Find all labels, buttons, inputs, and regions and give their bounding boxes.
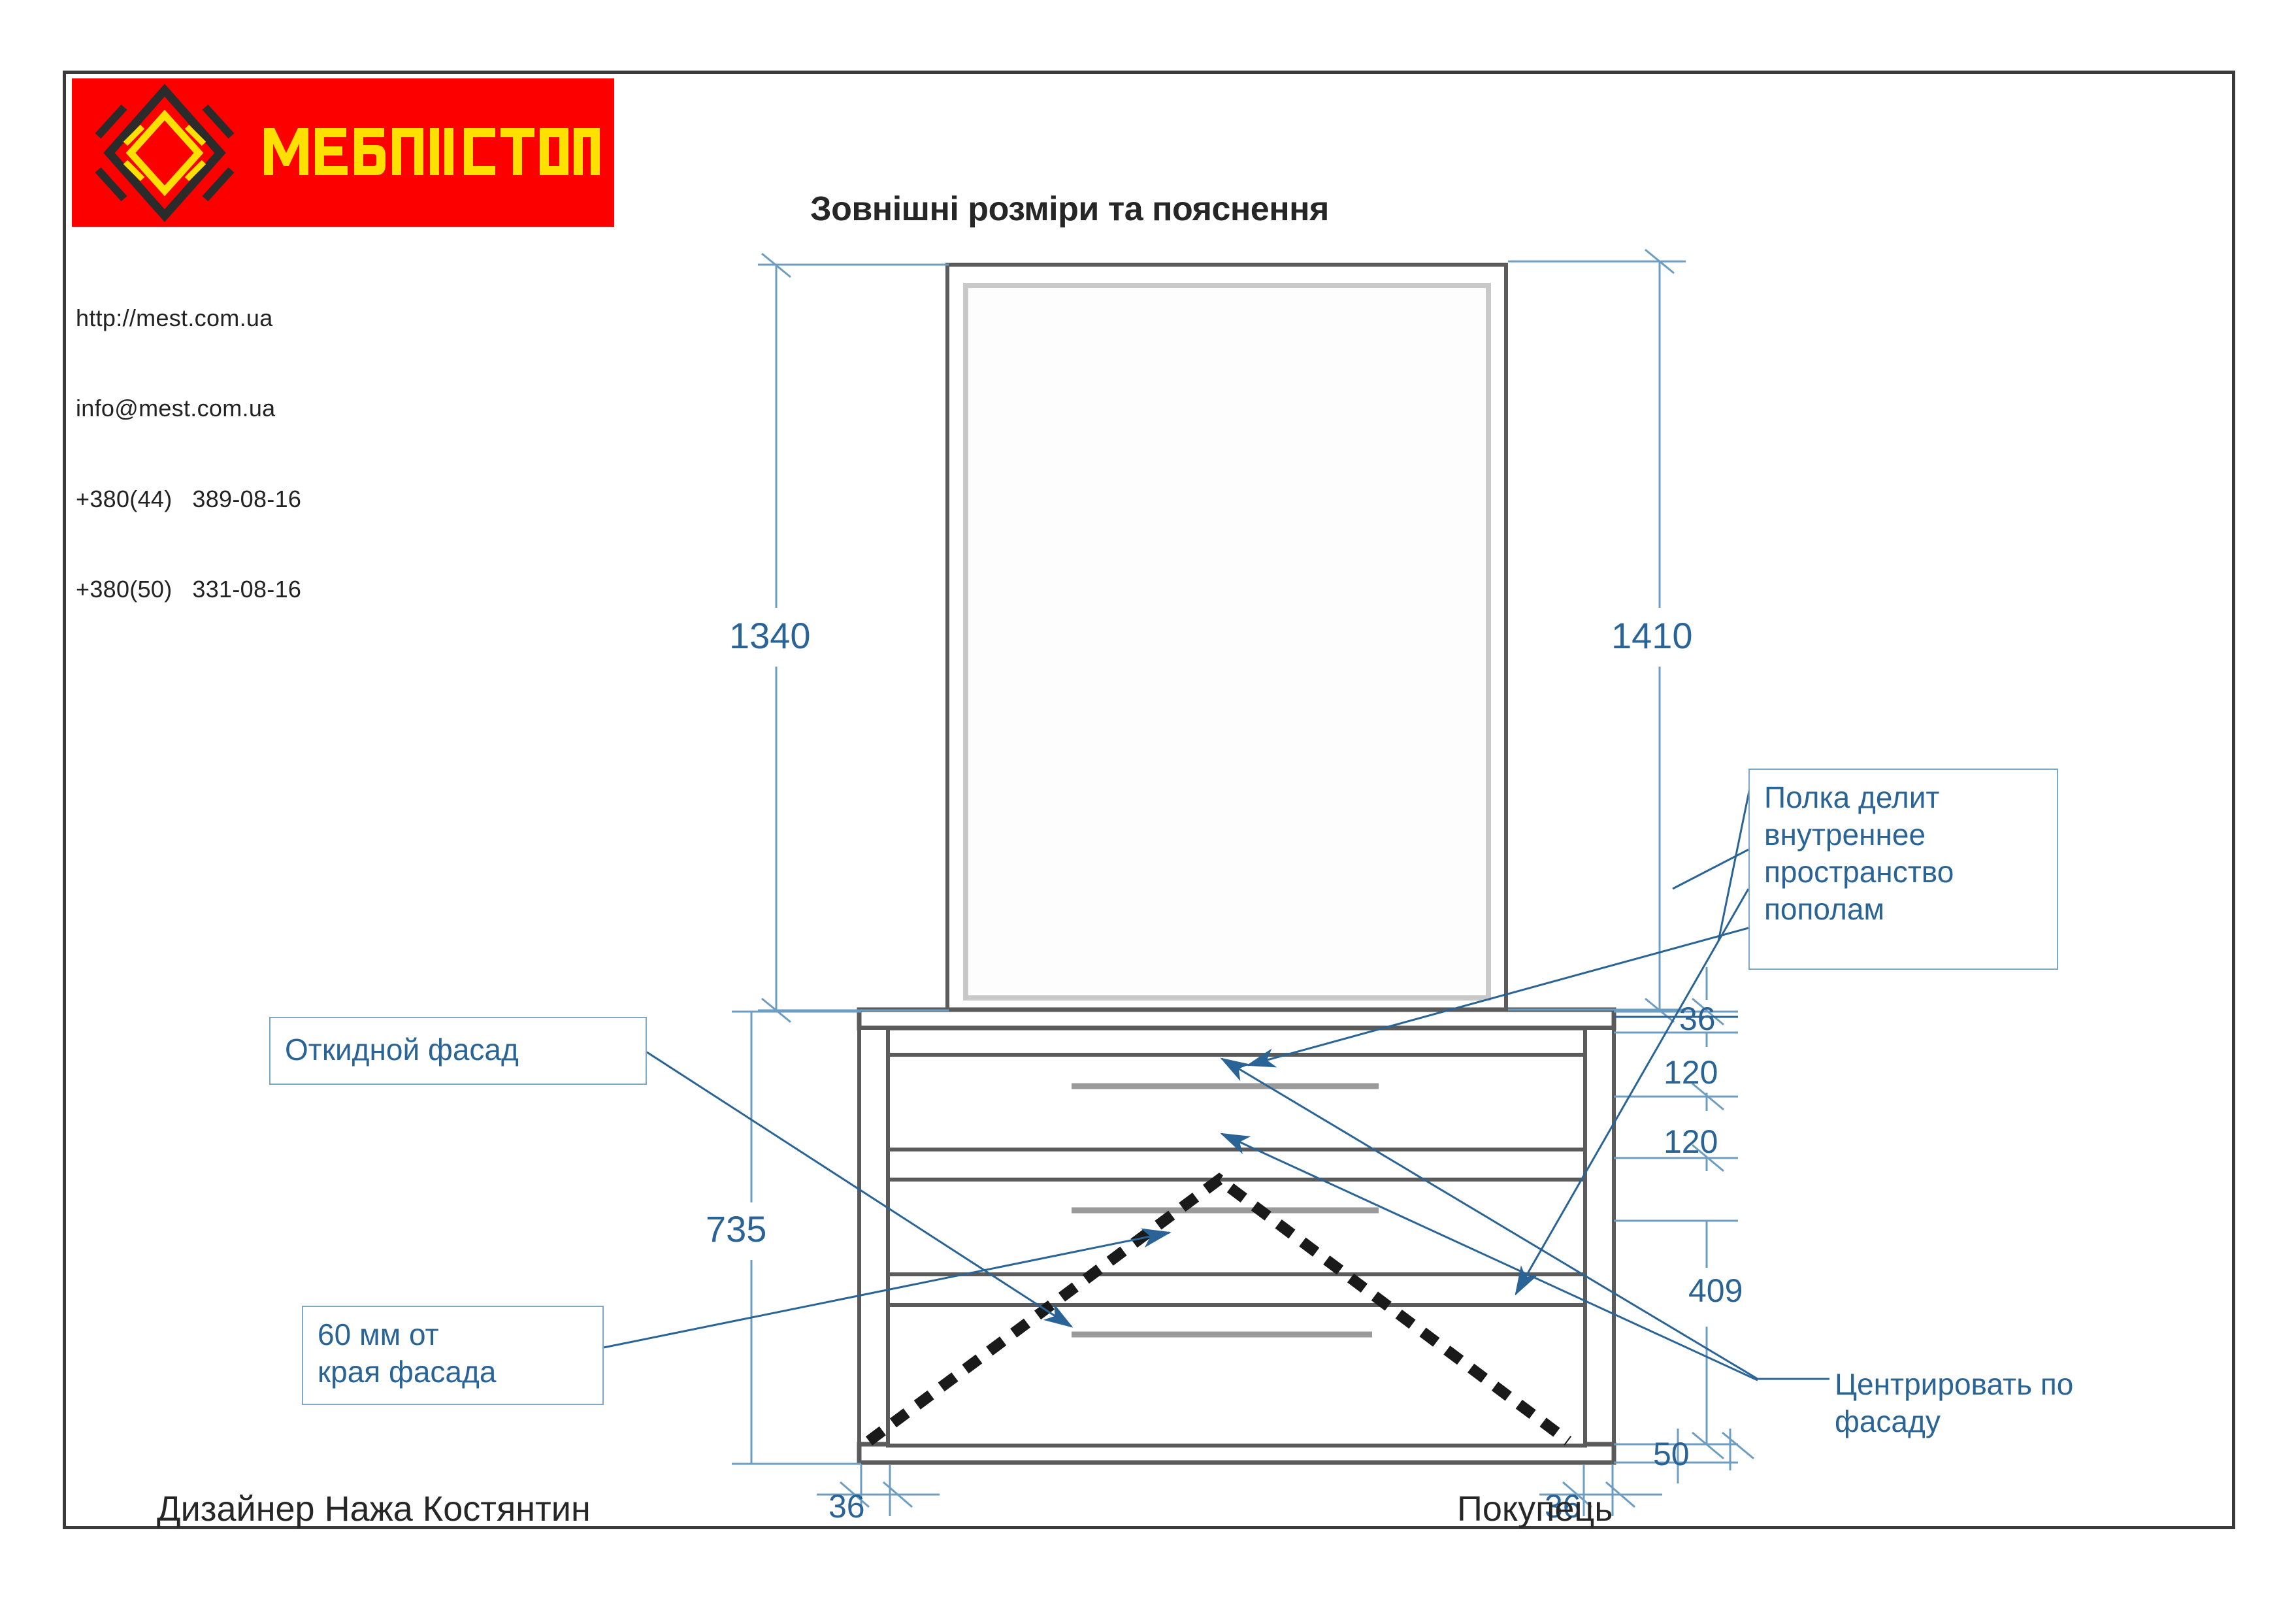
dimension-cabinet-height: 735 [706, 1208, 766, 1250]
contact-website: http://mest.com.ua [76, 303, 494, 333]
contact-phone-2: +380(50) 331-08-16 [76, 574, 494, 604]
company-logo-block [72, 78, 614, 227]
callout-60mm-from-edge: 60 мм от края фасада [302, 1306, 604, 1405]
company-contacts: http://mest.com.ua info@mest.com.ua +380… [76, 243, 494, 665]
drawing-sheet: http://mest.com.ua info@mest.com.ua +380… [0, 0, 2296, 1622]
dimension-total-height: 1410 [1611, 614, 1693, 657]
dimension-lower-compartment: 409 [1688, 1272, 1743, 1310]
dimension-top-panel: 36 [1679, 1000, 1716, 1038]
dimension-plinth: 50 [1653, 1435, 1690, 1473]
drawing-title: Зовнішні розміри та пояснення [810, 190, 1329, 229]
diamond-logo-icon [86, 84, 243, 222]
dimension-side-panel-left: 36 [828, 1487, 865, 1525]
footer-designer-signature: Дизайнер Нажа Костянтин [157, 1489, 591, 1529]
callout-center-by-front: Центрировать по фасаду [1835, 1366, 2201, 1440]
callout-shelf-divides-space: Полка делит внутреннее пространство попо… [1748, 769, 2058, 970]
dimension-mirror-height: 1340 [729, 614, 811, 657]
contact-phone-1: +380(44) 389-08-16 [76, 484, 494, 514]
callout-flip-down-front: Откидной фасад [269, 1017, 647, 1085]
dimension-drawer-2: 120 [1664, 1123, 1718, 1161]
dimension-drawer-1: 120 [1664, 1053, 1718, 1091]
contact-email: info@mest.com.ua [76, 393, 494, 423]
company-wordmark-icon [260, 115, 600, 183]
footer-customer-signature: Покупець [1457, 1489, 1613, 1529]
